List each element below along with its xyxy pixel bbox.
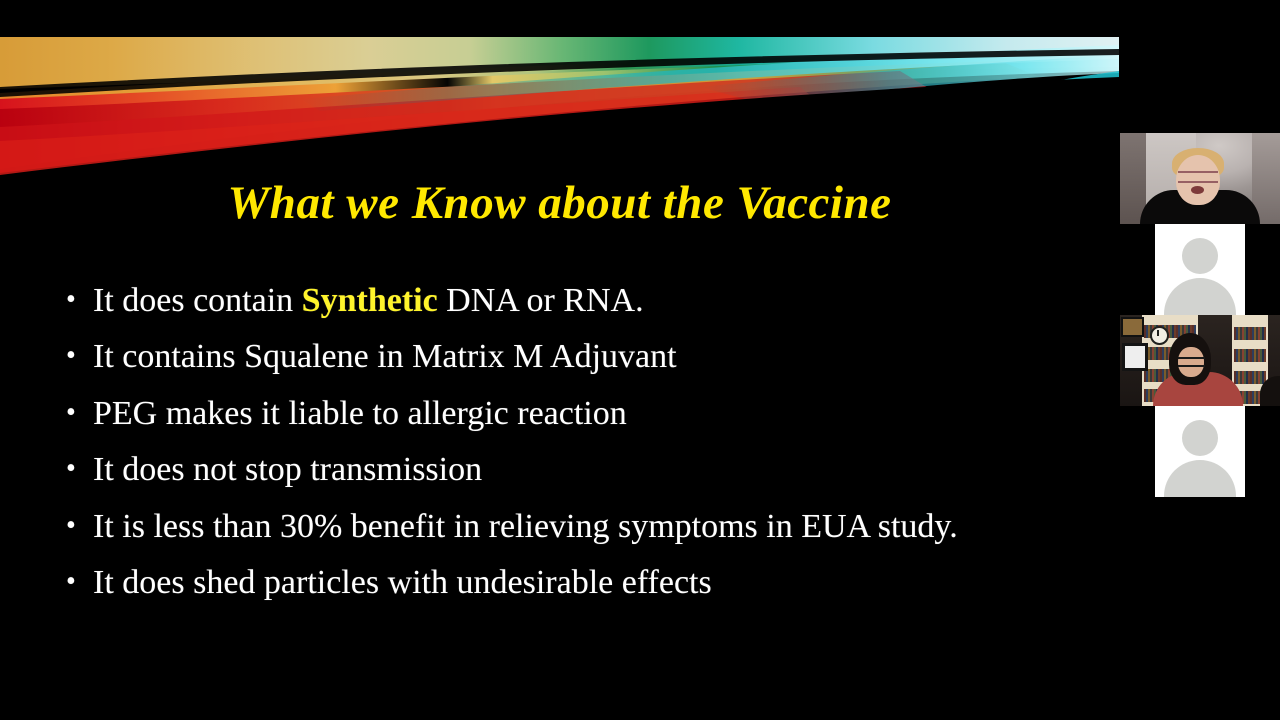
bullet-item-text: It does contain Synthetic DNA or RNA.	[93, 282, 1028, 319]
bullet-item: •PEG makes it liable to allergic reactio…	[66, 395, 1066, 432]
participant-video-tile-1[interactable]	[1120, 133, 1280, 224]
bullet-text-segment: It contains Squalene in Matrix M Adjuvan…	[93, 338, 677, 375]
bullet-text-segment: PEG makes it liable to allergic reaction	[93, 395, 627, 432]
bullet-item: •It does shed particles with undesirable…	[66, 564, 1066, 601]
bullet-highlighted-term: Synthetic	[302, 282, 438, 319]
bullet-item: •It does contain Synthetic DNA or RNA.	[66, 282, 1066, 319]
bullet-text-segment: It does contain	[93, 282, 302, 319]
wall-clock-icon	[1150, 326, 1169, 345]
participant-video-tile-2[interactable]	[1120, 224, 1280, 315]
framed-artwork	[1121, 317, 1144, 337]
bullet-text-segment: DNA or RNA.	[438, 282, 644, 319]
participant-video-strip[interactable]	[1120, 133, 1280, 497]
framed-photo	[1122, 343, 1148, 371]
avatar-icon-head	[1182, 420, 1218, 456]
presentation-slide: What we Know about the Vaccine •It does …	[0, 37, 1119, 629]
bullet-item-text: It does shed particles with undesirable …	[93, 564, 1028, 601]
bullet-item-text: It is less than 30% benefit in relieving…	[93, 508, 1028, 545]
bullet-marker-icon: •	[66, 451, 93, 487]
bookshelf-row	[1234, 327, 1266, 340]
bullet-item: •It is less than 30% benefit in relievin…	[66, 508, 1066, 545]
bullet-item: •It does not stop transmission	[66, 451, 1066, 488]
participant-video-tile-4[interactable]	[1120, 406, 1280, 497]
bullet-item: •It contains Squalene in Matrix M Adjuva…	[66, 338, 1066, 375]
tile-1-person-glasses	[1178, 171, 1218, 183]
page-title: What we Know about the Vaccine	[0, 179, 1119, 228]
bullet-text-segment: It does shed particles with undesirable …	[93, 564, 712, 601]
bullet-item-text: PEG makes it liable to allergic reaction	[93, 395, 1028, 432]
bullet-text-segment: It is less than 30% benefit in relieving…	[93, 508, 958, 545]
screen-root: What we Know about the Vaccine •It does …	[0, 0, 1280, 720]
bullet-marker-icon: •	[66, 564, 93, 600]
bullet-marker-icon: •	[66, 395, 93, 431]
bullet-marker-icon: •	[66, 338, 93, 374]
bookshelf-row	[1234, 371, 1266, 384]
participant-video-tile-3[interactable]	[1120, 315, 1280, 406]
bullet-item-text: It does not stop transmission	[93, 451, 1028, 488]
bullet-marker-icon: •	[66, 282, 93, 318]
bullet-marker-icon: •	[66, 508, 93, 544]
bullet-list: •It does contain Synthetic DNA or RNA.•I…	[66, 282, 1066, 620]
bookshelf-row	[1234, 349, 1266, 362]
tile-1-person-mouth	[1191, 186, 1204, 194]
avatar-icon-head	[1182, 238, 1218, 274]
tile-3-person-glasses	[1178, 357, 1205, 367]
decorative-swoosh-banner	[0, 37, 1119, 187]
bullet-text-segment: It does not stop transmission	[93, 451, 482, 488]
bullet-item-text: It contains Squalene in Matrix M Adjuvan…	[93, 338, 1028, 375]
